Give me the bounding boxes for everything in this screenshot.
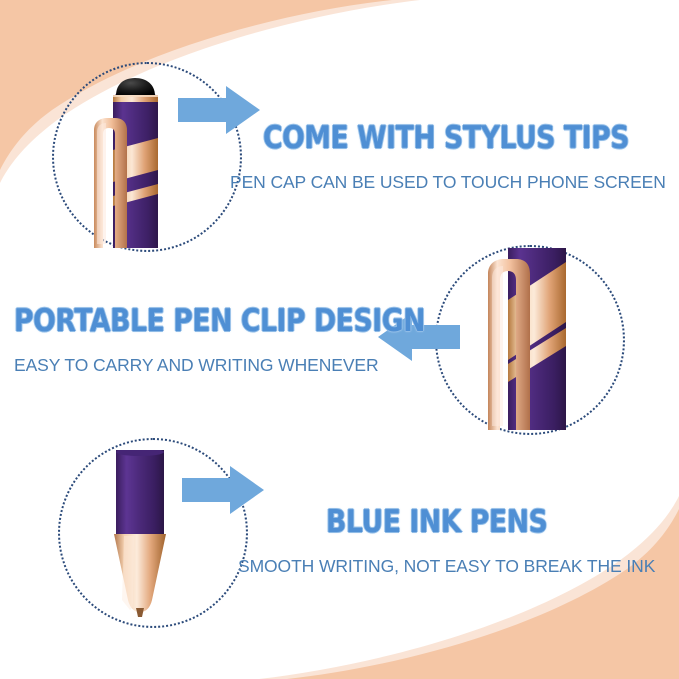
arrow-right-icon-stylus-tips (178, 86, 260, 134)
product-infographic: COME WITH STYLUS TIPS PEN CAP CAN BE USE… (0, 0, 679, 679)
pen-cap-with-stylus-tip-illustration (88, 78, 188, 248)
feature-headline-stylus-tips: COME WITH STYLUS TIPS (263, 120, 629, 156)
feature-subline-stylus-tips: PEN CAP CAN BE USED TO TOUCH PHONE SCREE… (230, 172, 666, 193)
feature-headline-pen-clip: PORTABLE PEN CLIP DESIGN (14, 303, 425, 339)
feature-subline-pen-clip: EASY TO CARRY AND WRITING WHENEVER (14, 355, 379, 376)
feature-headline-blue-ink: BLUE INK PENS (326, 504, 547, 540)
feature-subline-blue-ink: SMOOTH WRITING, NOT EASY TO BREAK THE IN… (238, 556, 655, 577)
arrow-right-icon-blue-ink (182, 466, 264, 514)
pen-clip-closeup-illustration (480, 248, 580, 430)
pen-writing-tip-illustration (100, 450, 180, 618)
